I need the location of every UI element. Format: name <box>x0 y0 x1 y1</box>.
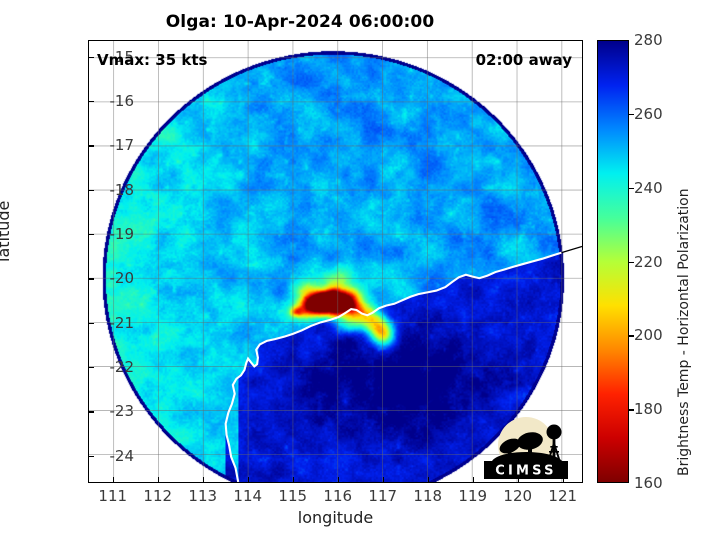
y-tick-mark <box>88 190 94 191</box>
colorbar-tick-label: 220 <box>634 253 663 271</box>
colorbar-tick-label: 280 <box>634 31 663 49</box>
colorbar-tick-label: 260 <box>634 105 663 123</box>
y-tick-label: -22 <box>74 358 134 376</box>
x-tick-mark <box>293 477 294 483</box>
figure: Olga: 10-Apr-2024 06:00:00 Vmax: 35 kts … <box>0 0 720 540</box>
x-tick-label: 121 <box>533 487 593 505</box>
colorbar-tick-mark <box>629 114 634 115</box>
colorbar-label: Brightness Temp - Horizontal Polarizatio… <box>676 188 692 476</box>
x-tick-mark <box>383 477 384 483</box>
y-tick-label: -21 <box>74 314 134 332</box>
y-tick-mark <box>88 411 94 412</box>
x-tick-mark <box>248 477 249 483</box>
cimss-logo: CIMSS <box>474 415 578 482</box>
vmax-annotation: Vmax: 35 kts <box>97 51 207 69</box>
time-away-annotation: 02:00 away <box>476 51 572 69</box>
colorbar-tick-mark <box>629 262 634 263</box>
x-tick-mark <box>338 477 339 483</box>
y-tick-mark <box>88 278 94 279</box>
y-tick-mark <box>88 57 94 58</box>
y-axis-label: latitude <box>0 201 13 262</box>
y-tick-label: -19 <box>74 225 134 243</box>
y-tick-mark <box>88 367 94 368</box>
y-tick-mark <box>88 234 94 235</box>
page-title: Olga: 10-Apr-2024 06:00:00 <box>0 12 600 32</box>
colorbar <box>597 40 629 483</box>
y-tick-label: -23 <box>74 402 134 420</box>
y-tick-label: -17 <box>74 136 134 154</box>
colorbar-tick-mark <box>629 188 634 189</box>
y-tick-mark <box>88 323 94 324</box>
cimss-logo-text: CIMSS <box>495 464 556 479</box>
colorbar-tick-mark <box>629 409 634 410</box>
colorbar-tick-label: 240 <box>634 179 663 197</box>
y-tick-label: -18 <box>74 181 134 199</box>
x-tick-mark <box>203 477 204 483</box>
colorbar-tick-label: 180 <box>634 400 663 418</box>
x-tick-mark <box>158 477 159 483</box>
colorbar-gradient <box>598 41 628 482</box>
colorbar-tick-label: 200 <box>634 326 663 344</box>
y-tick-label: -20 <box>74 269 134 287</box>
x-tick-mark <box>113 477 114 483</box>
y-tick-mark <box>88 101 94 102</box>
colorbar-tick-label: 160 <box>634 474 663 492</box>
y-tick-label: -16 <box>74 92 134 110</box>
x-axis-label: longitude <box>88 508 583 527</box>
x-tick-mark <box>428 477 429 483</box>
y-tick-mark <box>88 145 94 146</box>
y-tick-mark <box>88 456 94 457</box>
y-tick-label: -24 <box>74 447 134 465</box>
colorbar-tick-mark <box>629 335 634 336</box>
